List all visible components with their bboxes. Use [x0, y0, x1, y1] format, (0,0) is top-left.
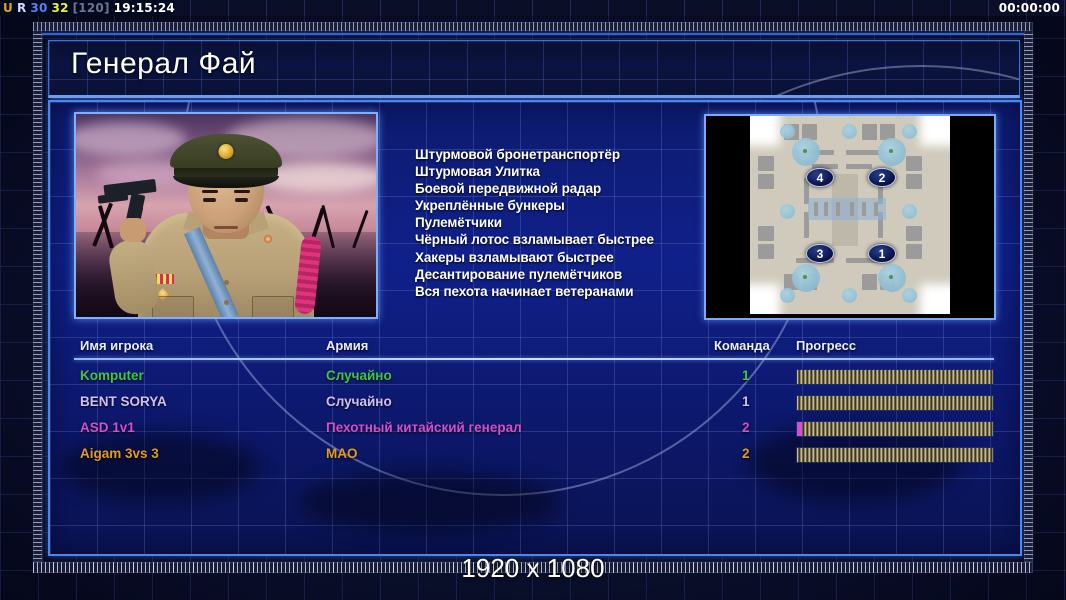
player-name: ASD 1v1: [80, 420, 135, 435]
general-abilities-list: Штурмовой бронетранспортёр Штурмовая Ули…: [415, 146, 654, 300]
resolution-label: 1920 x 1080: [0, 553, 1066, 584]
status-fps: 32: [52, 0, 69, 16]
ability-item: Чёрный лотос взламывает быстрее: [415, 231, 654, 248]
top-status-bar: U R 30 32 [120] 19:15:24 00:00:00: [0, 0, 1066, 16]
portrait-button-2: [224, 300, 229, 305]
column-header-player: Имя игрока: [80, 338, 153, 353]
title-plate: Генерал Фай: [48, 40, 1020, 98]
map-tree: [803, 149, 807, 153]
ruler-right: [1024, 22, 1033, 562]
map-resource-zone: [780, 124, 795, 139]
map-building: [862, 274, 877, 290]
map-tree: [803, 275, 807, 279]
map-resource-zone: [842, 124, 857, 139]
progress-fill: [797, 370, 993, 384]
ability-item: Десантирование пулемётчиков: [415, 266, 654, 283]
player-team[interactable]: 1: [742, 394, 750, 409]
player-name: BENT SORYA: [80, 394, 167, 409]
progress-fill: [797, 448, 993, 462]
table-row[interactable]: Aigam 3vs 3 MAO 2: [74, 442, 994, 468]
map-start-position-3: 3: [806, 244, 834, 263]
map-building: [758, 226, 774, 241]
map-building: [758, 174, 774, 189]
table-row[interactable]: BENT SORYA Случайно 1: [74, 390, 994, 416]
map-building: [758, 244, 774, 259]
map-resource-zone: [780, 204, 795, 219]
progress-accent: [797, 422, 802, 436]
player-name: Aigam 3vs 3: [80, 446, 159, 461]
map-center-detail: [836, 202, 840, 216]
game-lobby-screen: U R 30 32 [120] 19:15:24 00:00:00 Генера…: [0, 0, 1066, 600]
map-letterbox-left: [706, 116, 750, 314]
player-name: Komputer: [80, 368, 144, 383]
table-header-divider: [74, 358, 994, 360]
ability-item: Боевой передвижной радар: [415, 180, 654, 197]
portrait-eye-left: [203, 198, 216, 202]
portrait-pocket-right: [252, 296, 294, 319]
ability-item: Пулемётчики: [415, 214, 654, 231]
map-center-detail: [850, 202, 854, 216]
portrait-button-1: [224, 280, 229, 285]
portrait-hand: [120, 218, 146, 242]
portrait-mouth: [214, 226, 238, 229]
progress-fill: [797, 422, 993, 436]
player-progress-bar: [796, 447, 994, 463]
map-building: [906, 174, 922, 189]
map-corner-tl: [750, 116, 780, 146]
map-center-detail: [874, 202, 878, 216]
status-r-label: R: [17, 0, 26, 16]
map-corner-br: [920, 284, 950, 314]
map-tree: [889, 275, 893, 279]
map-building: [758, 156, 774, 171]
ability-item: Укреплённые бункеры: [415, 197, 654, 214]
map-corner-bl: [750, 284, 780, 314]
map-resource-zone: [902, 204, 917, 219]
map-resource-zone: [842, 288, 857, 303]
map-building: [862, 124, 877, 140]
ruler-left: [33, 22, 42, 562]
portrait-cap-badge: [219, 144, 234, 159]
player-army[interactable]: Случайно: [326, 368, 392, 383]
table-row[interactable]: ASD 1v1 Пехотный китайский генерал 2: [74, 416, 994, 442]
map-resource-zone: [780, 288, 795, 303]
map-start-position-4: 4: [806, 168, 834, 187]
portrait-brow-right: [234, 190, 250, 193]
player-progress-bar: [796, 369, 994, 385]
map-start-position-2: 2: [868, 168, 896, 187]
map-center-detail: [824, 202, 828, 216]
column-header-army: Армия: [326, 338, 368, 353]
ability-item: Вся пехота начинает ветеранами: [415, 283, 654, 300]
ruler-top: [33, 22, 1033, 31]
status-left-group: U R 30 32 [120] 19:15:24: [0, 0, 175, 16]
map-tree: [889, 149, 893, 153]
status-fps-max: [120]: [73, 0, 110, 16]
player-army[interactable]: Случайно: [326, 394, 392, 409]
player-list-table: Имя игрока Армия Команда Прогресс Komput…: [74, 338, 994, 468]
table-row[interactable]: Komputer Случайно 1: [74, 364, 994, 390]
map-resource-zone: [902, 288, 917, 303]
column-header-progress: Прогресс: [796, 338, 856, 353]
map-start-position-1: 1: [868, 244, 896, 263]
player-progress-bar: [796, 421, 994, 437]
map-terrain: 4 2 3 1: [750, 116, 950, 314]
page-title: Генерал Фай: [71, 47, 256, 81]
ability-item: Хакеры взламывают быстрее: [415, 249, 654, 266]
map-preview[interactable]: 4 2 3 1: [704, 114, 996, 320]
map-building: [906, 156, 922, 171]
map-building: [906, 244, 922, 259]
player-army[interactable]: Пехотный китайский генерал: [326, 420, 522, 435]
portrait-collar-pin: [264, 235, 272, 243]
map-resource-zone: [902, 124, 917, 139]
player-team[interactable]: 2: [742, 420, 750, 435]
status-clock: 19:15:24: [114, 0, 175, 16]
status-res-number: 30: [30, 0, 47, 16]
column-header-team: Команда: [714, 338, 770, 353]
status-timer: 00:00:00: [999, 0, 1060, 16]
map-wall: [846, 164, 872, 169]
table-header-row: Имя игрока Армия Команда Прогресс: [74, 338, 994, 358]
player-team[interactable]: 1: [742, 368, 750, 383]
portrait-brow-left: [202, 190, 218, 193]
portrait-pocket-left: [152, 296, 194, 319]
player-army[interactable]: MAO: [326, 446, 358, 461]
map-corner-tr: [920, 116, 950, 146]
map-letterbox-right: [950, 116, 994, 314]
player-progress-bar: [796, 395, 994, 411]
ability-item: Штурмовой бронетранспортёр: [415, 146, 654, 163]
ability-item: Штурмовая Улитка: [415, 163, 654, 180]
status-right-group: 00:00:00: [999, 0, 1060, 16]
player-team[interactable]: 2: [742, 446, 750, 461]
map-building: [906, 226, 922, 241]
progress-fill: [797, 396, 993, 410]
portrait-eye-right: [235, 198, 248, 202]
map-center-detail: [862, 202, 866, 216]
status-u-label: U: [3, 0, 13, 16]
panel-shadow-2: [300, 472, 560, 532]
general-portrait: [74, 112, 378, 319]
map-center-detail: [814, 202, 818, 216]
